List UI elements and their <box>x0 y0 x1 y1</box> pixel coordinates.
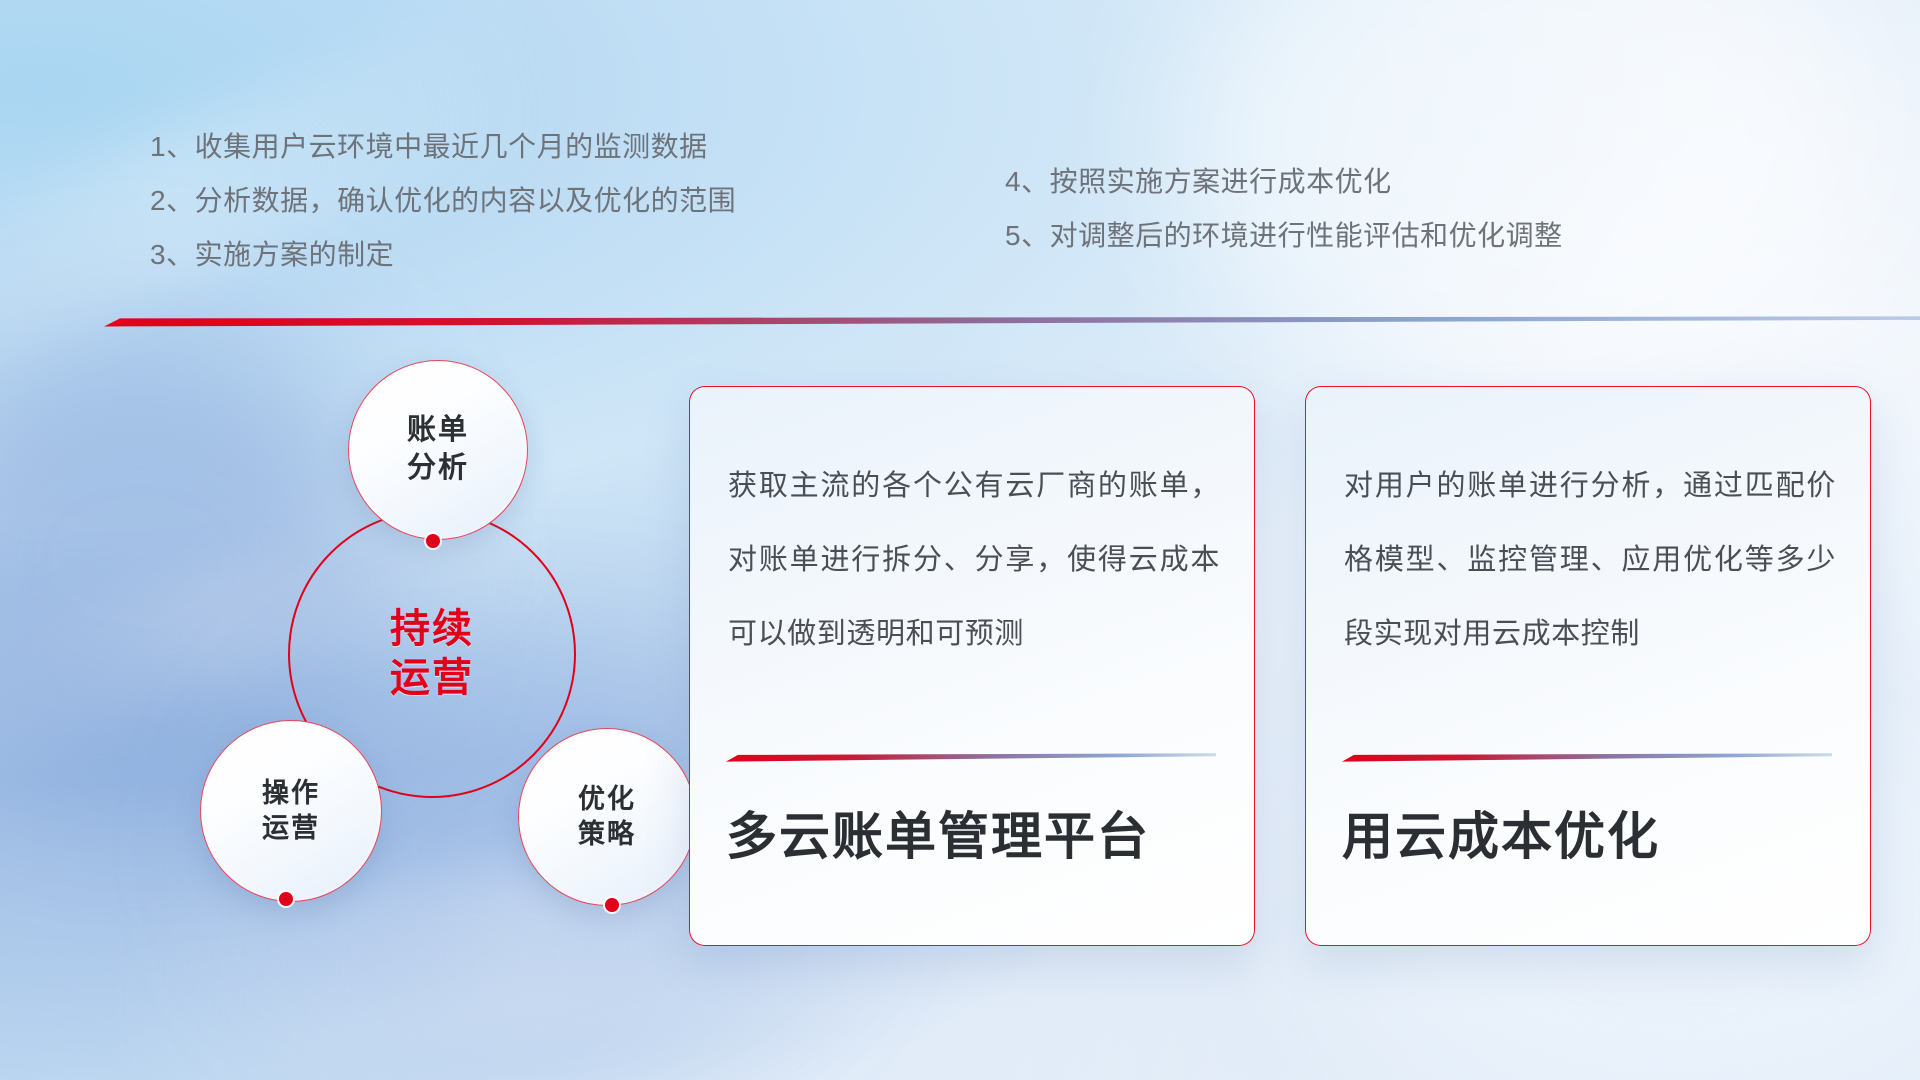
diagram-bubble-bill-analysis[interactable]: 账单 分析 <box>348 360 528 540</box>
step-item: 4、按照实施方案进行成本优化 <box>1005 155 1563 209</box>
card-divider <box>726 753 1216 762</box>
diagram-node-dot <box>426 534 440 548</box>
diagram-center-line2: 运营 <box>390 654 474 703</box>
diagram-node-dot <box>605 898 619 912</box>
section-divider <box>104 316 1920 327</box>
bubble-label-line1: 操作 <box>262 776 320 811</box>
diagram-bubble-operations[interactable]: 操作 运营 <box>200 720 382 902</box>
step-item: 3、实施方案的制定 <box>150 228 736 282</box>
cycle-diagram: 持续 运营 账单 分析 操作 运营 优化 策略 <box>92 350 652 950</box>
step-item: 5、对调整后的环境进行性能评估和优化调整 <box>1005 209 1563 263</box>
card-divider-shape <box>726 753 1216 762</box>
bubble-label-line2: 策略 <box>578 817 636 852</box>
bubble-label-line2: 运营 <box>262 811 320 846</box>
section-divider-shape <box>104 316 1920 327</box>
bubble-label-line1: 账单 <box>407 412 469 450</box>
feature-card-cloud-cost-optimization[interactable]: 对用户的账单进行分析，通过匹配价格模型、监控管理、应用优化等多少段实现对用云成本… <box>1305 386 1871 946</box>
diagram-center-line1: 持续 <box>390 605 474 654</box>
diagram-bubble-optimization-strategy[interactable]: 优化 策略 <box>518 728 696 906</box>
slide-canvas: 1、收集用户云环境中最近几个月的监测数据 2、分析数据，确认优化的内容以及优化的… <box>0 0 1920 1080</box>
card-title: 多云账单管理平台 <box>726 805 1224 869</box>
steps-right-column: 4、按照实施方案进行成本优化 5、对调整后的环境进行性能评估和优化调整 <box>1005 155 1563 263</box>
bubble-label-line1: 优化 <box>578 782 636 817</box>
card-body-text: 对用户的账单进行分析，通过匹配价格模型、监控管理、应用优化等多少段实现对用云成本… <box>1344 449 1836 671</box>
step-item: 2、分析数据，确认优化的内容以及优化的范围 <box>150 174 736 228</box>
steps-left-column: 1、收集用户云环境中最近几个月的监测数据 2、分析数据，确认优化的内容以及优化的… <box>150 120 736 282</box>
card-title: 用云成本优化 <box>1342 805 1840 869</box>
feature-card-multicloud-billing[interactable]: 获取主流的各个公有云厂商的账单，对账单进行拆分、分享，使得云成本可以做到透明和可… <box>689 386 1255 946</box>
diagram-node-dot <box>279 892 293 906</box>
bubble-label-line2: 分析 <box>407 450 469 488</box>
card-divider <box>1342 753 1832 762</box>
step-item: 1、收集用户云环境中最近几个月的监测数据 <box>150 120 736 174</box>
card-divider-shape <box>1342 753 1832 762</box>
card-body-text: 获取主流的各个公有云厂商的账单，对账单进行拆分、分享，使得云成本可以做到透明和可… <box>728 449 1220 671</box>
